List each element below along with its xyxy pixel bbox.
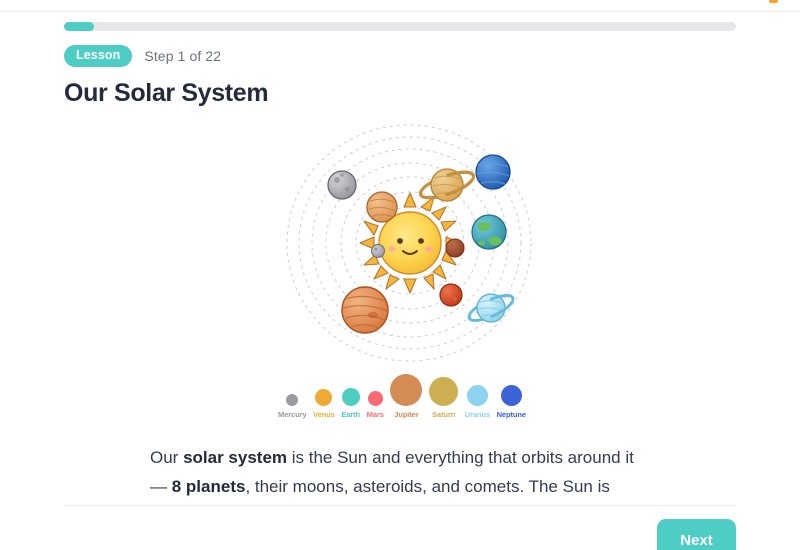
lesson-progress-fill — [64, 22, 94, 31]
saturn-dot-icon — [429, 377, 458, 406]
mars-inner-icon — [446, 239, 464, 257]
paragraph-emphasis: 8 planets — [172, 477, 246, 496]
lesson-paragraph: Our solar system is the Sun and everythi… — [150, 443, 655, 501]
legend-label: Mercury — [278, 410, 306, 419]
paragraph-text: Our — [150, 448, 183, 467]
legend-label: Neptune — [497, 410, 526, 419]
lesson-type-badge: Lesson — [64, 45, 132, 67]
footer-divider — [64, 505, 736, 506]
lesson-screen: Lesson Step 1 of 22 Our Solar System — [0, 0, 800, 550]
paragraph-text: , their moons, asteroids, and comets. Th… — [245, 477, 609, 496]
top-chrome-bar — [0, 0, 800, 12]
next-button[interactable]: Next — [657, 519, 736, 550]
jupiter-icon — [342, 287, 388, 333]
step-indicator-label: Step 1 of 22 — [144, 48, 221, 64]
venus-dot-icon — [315, 389, 332, 406]
moon-icon — [328, 171, 356, 199]
jupiter-dot-icon — [390, 374, 422, 406]
mars-icon — [440, 284, 462, 306]
mercury-icon — [372, 245, 385, 258]
legend-item-venus: Venus — [313, 389, 335, 419]
legend-label: Saturn — [432, 410, 455, 419]
legend-item-mercury: Mercury — [278, 394, 306, 419]
legend-item-mars: Mars — [367, 391, 384, 419]
legend-label: Venus — [313, 410, 335, 419]
solar-system-illustration — [285, 115, 535, 365]
paragraph-emphasis: solar system — [183, 448, 287, 467]
legend-label: Mars — [367, 410, 384, 419]
legend-item-earth: Earth — [341, 388, 360, 419]
saturn-icon — [418, 167, 477, 203]
earth-dot-icon — [342, 388, 360, 406]
planet-legend: MercuryVenusEarthMarsJupiterSaturnUranus… — [278, 371, 526, 419]
neptune-icon — [476, 155, 510, 189]
venus-icon — [367, 192, 397, 222]
legend-item-jupiter: Jupiter — [390, 374, 422, 419]
legend-label: Jupiter — [394, 410, 418, 419]
earth-icon — [472, 215, 506, 249]
mercury-dot-icon — [286, 394, 298, 406]
page-title: Our Solar System — [64, 79, 268, 108]
mars-dot-icon — [368, 391, 383, 406]
legend-item-uranus: Uranus — [465, 385, 490, 419]
neptune-dot-icon — [501, 385, 522, 406]
legend-item-saturn: Saturn — [429, 377, 458, 419]
lesson-meta-row: Lesson Step 1 of 22 — [64, 45, 221, 67]
uranus-dot-icon — [467, 385, 488, 406]
legend-label: Earth — [341, 410, 360, 419]
lesson-progress-bar — [64, 22, 736, 31]
chrome-accent-marker — [769, 0, 778, 3]
legend-item-neptune: Neptune — [497, 385, 526, 419]
legend-label: Uranus — [465, 410, 490, 419]
